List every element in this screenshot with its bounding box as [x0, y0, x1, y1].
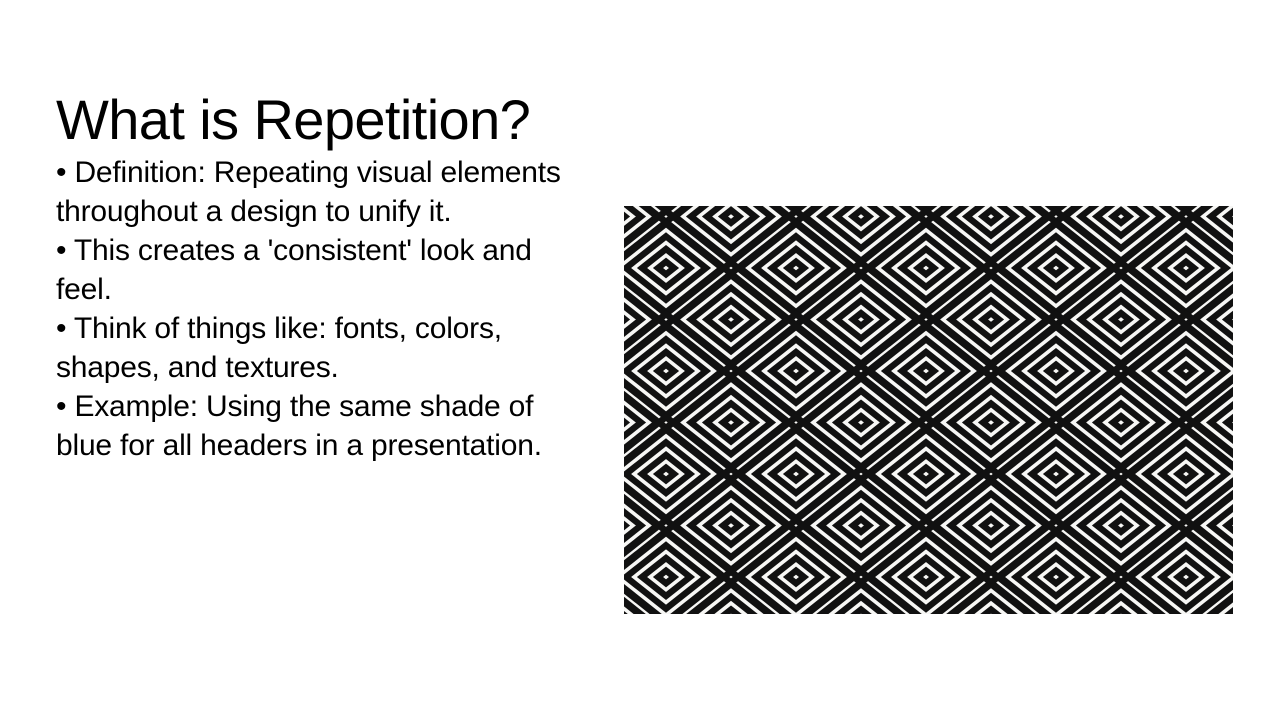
- list-item: • Think of things like: fonts, colors, s…: [56, 310, 584, 387]
- geometric-diamond-pattern-image: [624, 206, 1233, 614]
- bullet-list: • Definition: Repeating visual elements …: [56, 154, 584, 466]
- slide-canvas: What is Repetition? • Definition: Repeat…: [0, 0, 1280, 720]
- page-title: What is Repetition?: [56, 85, 1156, 155]
- list-item: • Example: Using the same shade of blue …: [56, 388, 584, 465]
- diamond-pattern-graphic: [624, 206, 1233, 614]
- list-item: • Definition: Repeating visual elements …: [56, 154, 584, 231]
- list-item: • This creates a 'consistent' look and f…: [56, 232, 584, 309]
